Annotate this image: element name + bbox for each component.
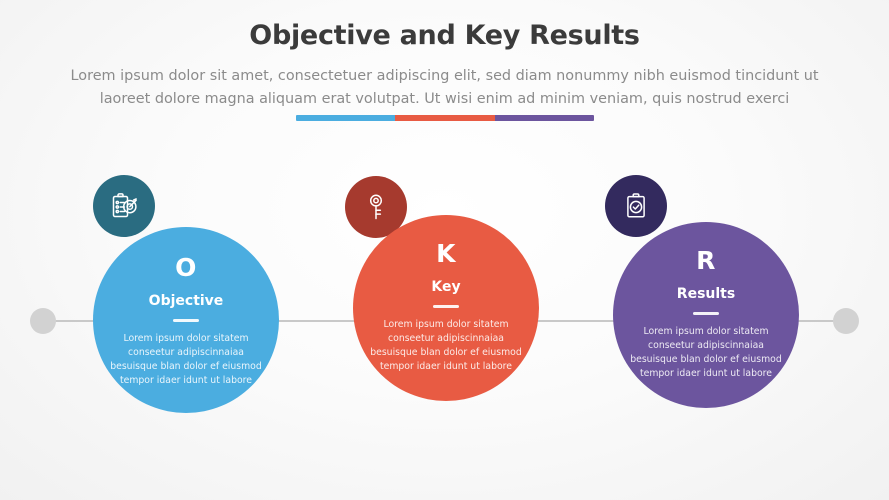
pillar-objective[interactable]: O Objective Lorem ipsum dolor sitatem co…	[56, 0, 316, 500]
bubble-key[interactable]: K Key Lorem ipsum dolor sitatem conseetu…	[353, 215, 539, 401]
bubble-description: Lorem ipsum dolor sitatem conseetur adip…	[626, 325, 786, 382]
bubble-results[interactable]: R Results Lorem ipsum dolor sitatem cons…	[613, 222, 799, 408]
key-icon	[360, 191, 392, 223]
bubble-title: Key	[431, 280, 460, 294]
bubble-letter: R	[696, 248, 716, 273]
bubble-description: Lorem ipsum dolor sitatem conseetur adip…	[366, 318, 526, 375]
bubble-title: Results	[677, 287, 735, 301]
connector-endpoint-right	[833, 308, 859, 334]
bubble-description: Lorem ipsum dolor sitatem conseetur adip…	[106, 332, 266, 389]
bubble-divider	[433, 305, 459, 308]
badge-objective[interactable]	[93, 175, 155, 237]
bubble-letter: O	[175, 255, 197, 280]
bubble-divider	[693, 312, 719, 315]
badge-results[interactable]	[605, 175, 667, 237]
bubble-letter: K	[436, 241, 456, 266]
bubble-title: Objective	[149, 294, 224, 308]
pillar-results[interactable]: R Results Lorem ipsum dolor sitatem cons…	[576, 0, 836, 500]
clipboard-target-icon	[107, 189, 141, 223]
pillar-key[interactable]: K Key Lorem ipsum dolor sitatem conseetu…	[316, 0, 576, 500]
connector-endpoint-left	[30, 308, 56, 334]
bubble-divider	[173, 319, 199, 322]
clipboard-check-icon	[620, 190, 652, 222]
infographic-canvas: Objective and Key Results Lorem ipsum do…	[0, 0, 889, 500]
bubble-objective[interactable]: O Objective Lorem ipsum dolor sitatem co…	[93, 227, 279, 413]
